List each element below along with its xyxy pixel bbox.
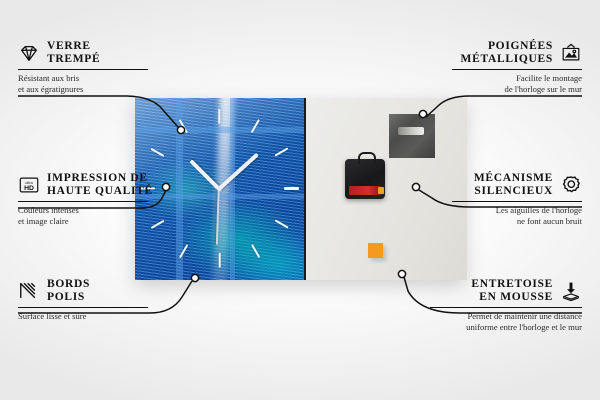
callout-title: BORDS POLIS: [47, 278, 90, 304]
diamond-icon: [18, 42, 40, 64]
callout-impression-hd[interactable]: ultra HD IMPRESSION DE HAUTE QUALITÉ Cou…: [18, 172, 148, 226]
callout-header: VERRE TREMPÉ: [18, 40, 148, 66]
pattern-line: [230, 98, 235, 280]
infographic-canvas: VERRE TREMPÉ Résistant aux bris et aux é…: [0, 0, 600, 400]
callout-rule: [452, 201, 582, 202]
callout-bords-polis[interactable]: BORDS POLIS Surface lisse et sûre: [18, 278, 148, 322]
pattern-line: [135, 127, 304, 133]
clock-mechanism: [345, 159, 385, 199]
callout-poignees-metalliques[interactable]: POIGNÉES MÉTALLIQUES Facilite le montage…: [452, 40, 582, 94]
callout-subtitle: Facilite le montage de l'horloge sur le …: [452, 73, 582, 94]
callout-title: VERRE TREMPÉ: [47, 40, 100, 66]
callout-header: ultra HD IMPRESSION DE HAUTE QUALITÉ: [18, 172, 148, 198]
callout-subtitle: Surface lisse et sûre: [18, 311, 148, 321]
battery-terminal: [378, 187, 384, 194]
callout-title: IMPRESSION DE HAUTE QUALITÉ: [47, 172, 153, 198]
hour-tick: [218, 253, 220, 268]
callout-rule: [18, 307, 148, 308]
picture-hanger-icon: [560, 42, 582, 64]
callout-rule: [18, 69, 148, 70]
callout-rule: [430, 307, 582, 308]
clock-front-face: [135, 98, 304, 280]
hour-tick: [251, 244, 261, 258]
diagonal-lines-icon: [18, 280, 40, 302]
product-image: [135, 98, 465, 280]
svg-text:HD: HD: [24, 185, 34, 192]
callout-subtitle: Couleurs intenses et image claire: [18, 205, 148, 226]
callout-header: MÉCANISME SILENCIEUX: [452, 172, 582, 198]
callout-subtitle: Les aiguilles de l'horloge ne font aucun…: [452, 205, 582, 226]
callout-title: MÉCANISME SILENCIEUX: [474, 172, 553, 198]
callout-subtitle: Permet de maintenir une distance uniform…: [430, 311, 582, 332]
hanger-slot: [398, 127, 424, 135]
metal-hanger-plate: [389, 114, 435, 158]
callout-entretoise-en-mousse[interactable]: ENTRETOISE EN MOUSSE Permet de maintenir…: [430, 278, 582, 332]
callout-subtitle: Résistant aux bris et aux égratignures: [18, 73, 148, 94]
foam-spacer: [368, 243, 383, 258]
hour-tick: [275, 220, 289, 230]
ultra-hd-badge-icon: ultra HD: [18, 174, 40, 196]
hour-tick: [150, 220, 164, 230]
hands-pivot: [217, 186, 222, 191]
callout-title: ENTRETOISE EN MOUSSE: [471, 278, 553, 304]
callout-header: POIGNÉES MÉTALLIQUES: [452, 40, 582, 66]
callout-header: BORDS POLIS: [18, 278, 148, 304]
callout-title: POIGNÉES MÉTALLIQUES: [461, 40, 553, 66]
callout-mecanisme-silencieux[interactable]: MÉCANISME SILENCIEUX Les aiguilles de l'…: [452, 172, 582, 226]
mechanism-hook: [358, 152, 376, 164]
clock-back-panel: [304, 98, 467, 280]
callout-rule: [452, 69, 582, 70]
callout-header: ENTRETOISE EN MOUSSE: [430, 278, 582, 304]
battery: [349, 186, 381, 195]
gear-icon: [560, 174, 582, 196]
hour-tick: [284, 187, 299, 189]
callout-verre-trempe[interactable]: VERRE TREMPÉ Résistant aux bris et aux é…: [18, 40, 148, 94]
press-down-pad-icon: [560, 280, 582, 302]
callout-rule: [18, 201, 148, 202]
